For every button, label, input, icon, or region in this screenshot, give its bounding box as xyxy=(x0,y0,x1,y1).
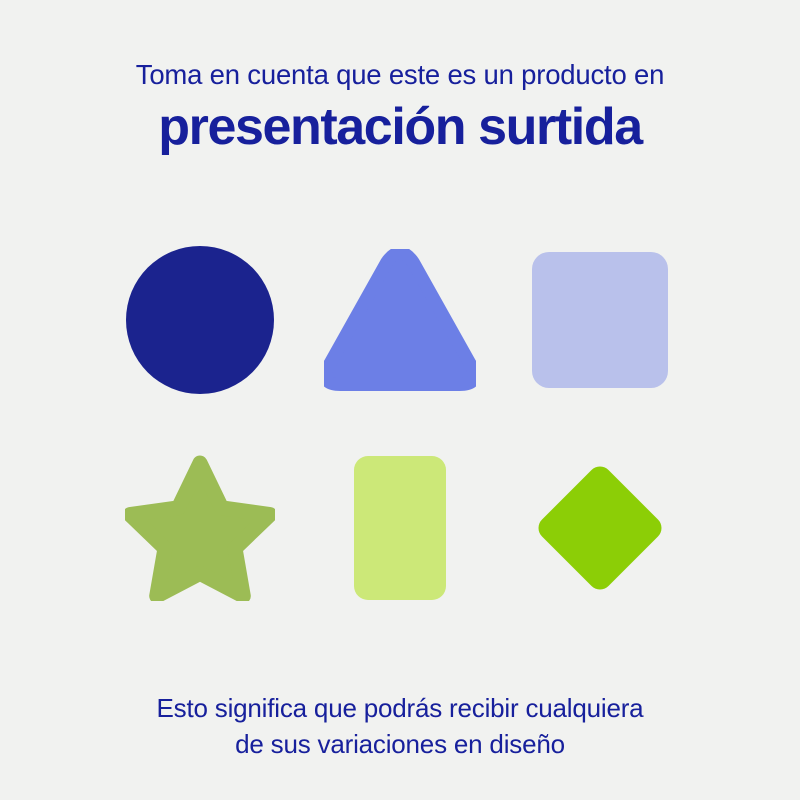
footer-line-1: Esto significa que podrás recibir cualqu… xyxy=(0,690,800,726)
shape-cell-triangle xyxy=(300,222,500,417)
shape-grid xyxy=(100,222,700,612)
star-shape-icon xyxy=(125,455,275,601)
shape-cell-rounded-square xyxy=(500,222,700,417)
promo-poster: Toma en cuenta que este es un producto e… xyxy=(0,0,800,800)
triangle-shape-icon xyxy=(324,249,476,391)
rounded-square-shape-icon xyxy=(532,252,668,388)
shape-cell-rounded-rectangle xyxy=(300,430,500,625)
shape-cell-diamond xyxy=(500,430,700,625)
heading-block: Toma en cuenta que este es un producto e… xyxy=(0,58,800,157)
heading-line-2: presentación surtida xyxy=(0,97,800,157)
shape-cell-circle xyxy=(100,222,300,417)
diamond-shape-icon xyxy=(522,450,678,606)
heading-line-1: Toma en cuenta que este es un producto e… xyxy=(0,58,800,92)
circle-shape-icon xyxy=(124,244,276,396)
footer-block: Esto significa que podrás recibir cualqu… xyxy=(0,690,800,762)
shape-cell-star xyxy=(100,430,300,625)
rounded-rectangle-shape-icon xyxy=(354,456,446,600)
footer-line-2: de sus variaciones en diseño xyxy=(0,726,800,762)
